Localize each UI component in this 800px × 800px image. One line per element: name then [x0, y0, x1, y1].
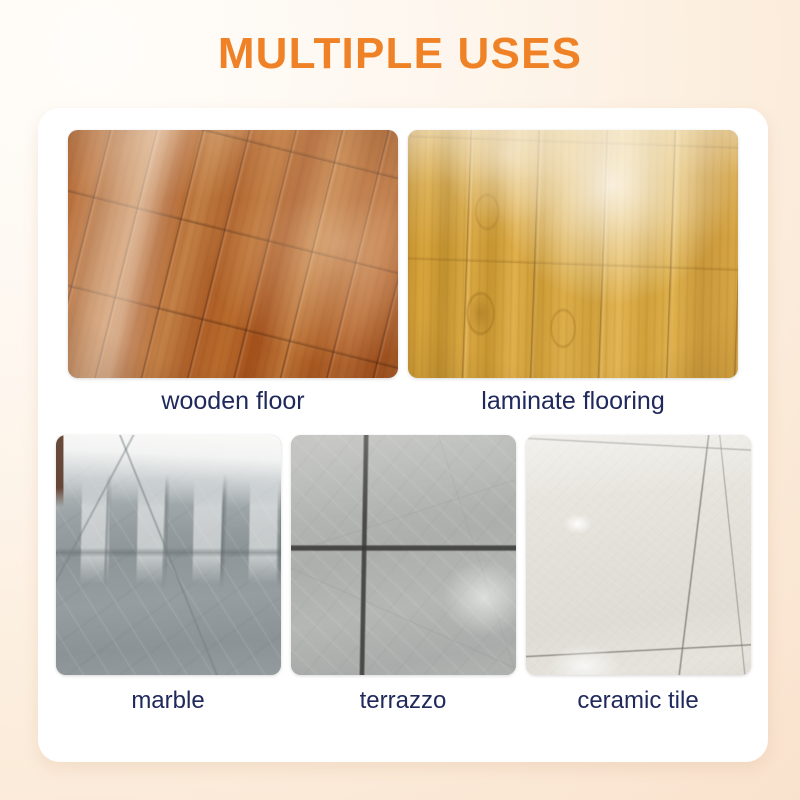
laminate-vignette — [408, 130, 738, 378]
terrazzo-gloss-highlight — [291, 435, 516, 675]
caption-wooden-floor: wooden floor — [161, 387, 304, 416]
bottom-row-tiles: marble terrazzo — [38, 435, 768, 715]
page-title: MULTIPLE USES — [218, 29, 582, 79]
bottom-row: marble terrazzo — [38, 435, 768, 735]
top-row-tiles: wooden floor laminate flooring — [38, 130, 768, 416]
content-card: wooden floor laminate flooring — [38, 108, 768, 762]
caption-marble: marble — [131, 687, 204, 715]
multiple-uses-infographic: MULTIPLE USES wooden floor — [0, 0, 800, 800]
caption-terrazzo: terrazzo — [360, 687, 447, 715]
laminate-flooring-photo[interactable] — [408, 130, 738, 378]
title-bar: MULTIPLE USES — [0, 0, 800, 108]
wood-vignette — [68, 130, 398, 378]
ceramic-gloss-highlight — [526, 435, 751, 675]
top-row: wooden floor laminate flooring — [38, 130, 768, 412]
caption-laminate-flooring: laminate flooring — [481, 387, 664, 416]
marble-doorway-edge — [56, 435, 281, 675]
use-case-terrazzo[interactable]: terrazzo — [291, 435, 516, 715]
use-case-wooden-floor[interactable]: wooden floor — [68, 130, 398, 416]
use-case-laminate-flooring[interactable]: laminate flooring — [408, 130, 738, 416]
terrazzo-photo[interactable] — [291, 435, 516, 675]
use-case-marble[interactable]: marble — [56, 435, 281, 715]
ceramic-tile-photo[interactable] — [526, 435, 751, 675]
marble-photo[interactable] — [56, 435, 281, 675]
caption-ceramic-tile: ceramic tile — [577, 687, 698, 715]
wooden-floor-photo[interactable] — [68, 130, 398, 378]
use-case-ceramic-tile[interactable]: ceramic tile — [526, 435, 751, 715]
